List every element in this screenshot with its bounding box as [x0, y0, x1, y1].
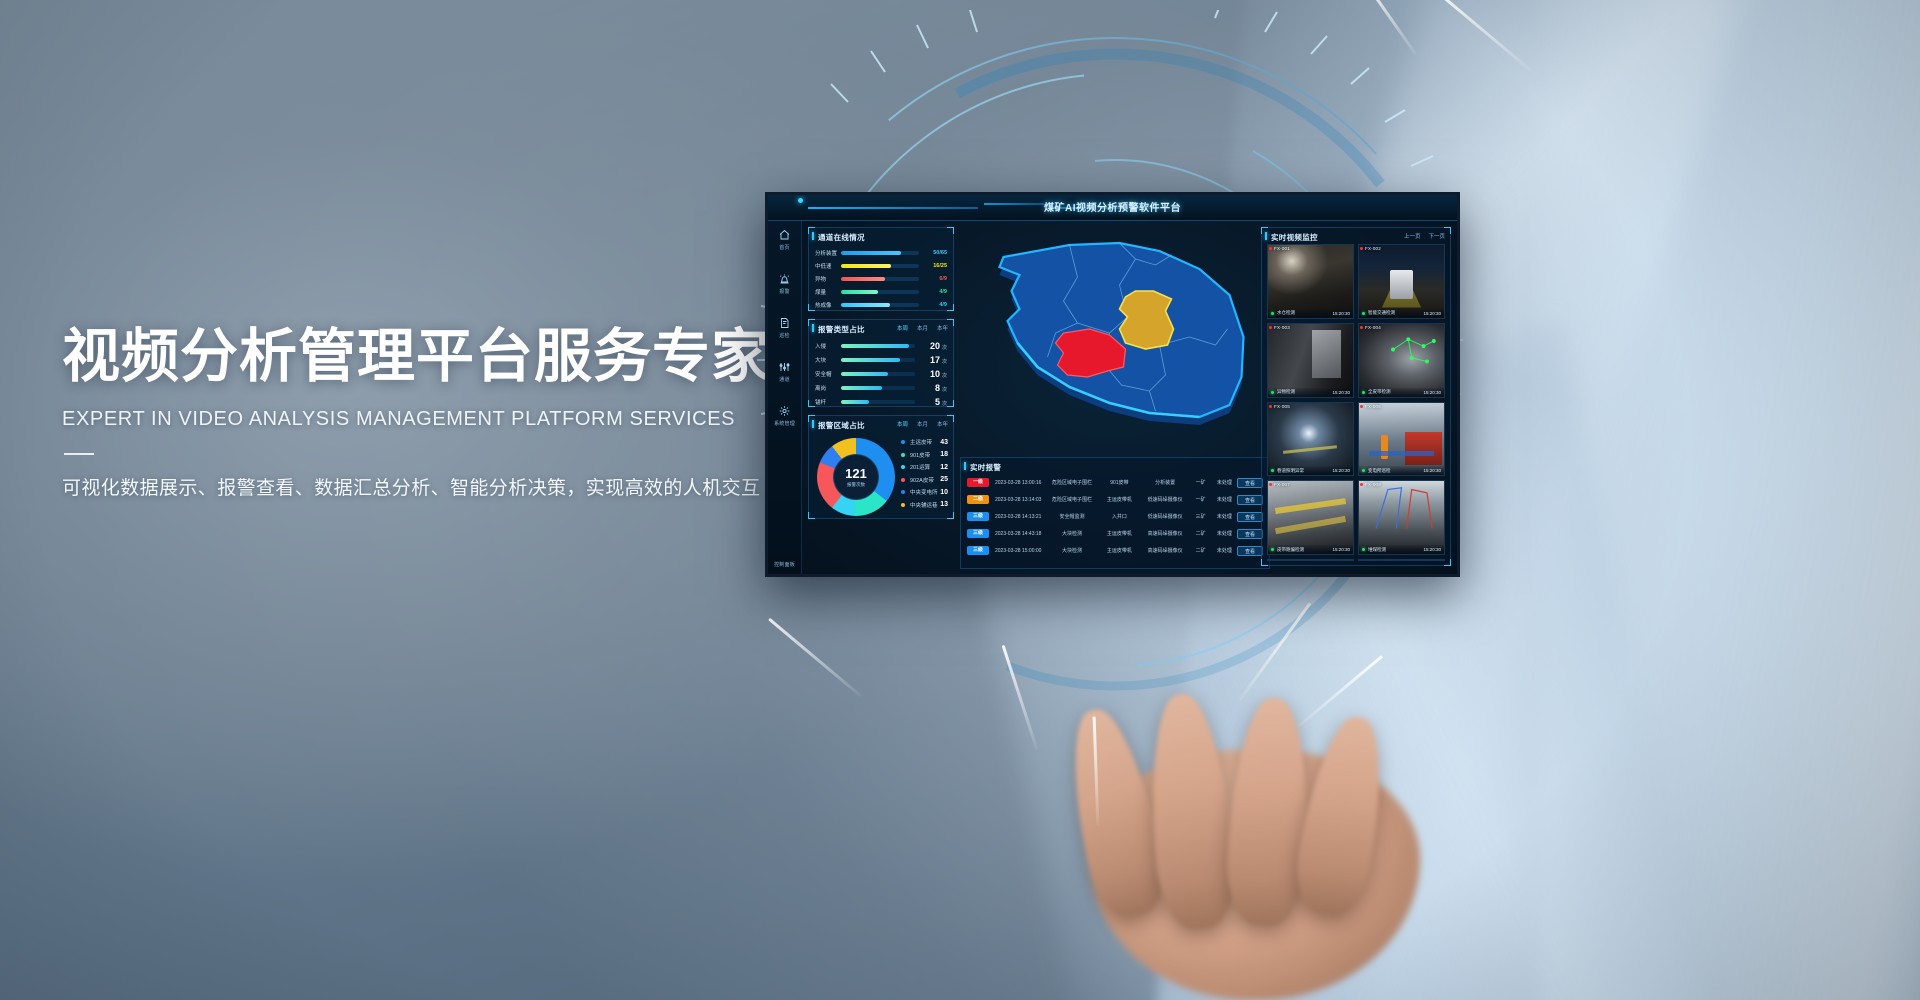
channel-icon [768, 361, 801, 373]
view-button[interactable]: 查看 [1237, 546, 1263, 556]
camera-id: FX-003 [1274, 325, 1290, 330]
tab-year[interactable]: 本年 [937, 324, 948, 332]
video-tile[interactable]: FX-006 变电所巡检 15:20:30 [1358, 402, 1445, 477]
home-icon [768, 229, 801, 241]
sidebar-label: 巡检 [768, 332, 801, 339]
camera-caption: 皮带跑偏检测 [1277, 547, 1332, 553]
tab-month[interactable]: 本月 [917, 324, 928, 332]
alarm-location: 主运皮带机 [1098, 496, 1140, 503]
alarm-time: 2023-03-28 13:14:03 [995, 497, 1046, 503]
legend-item: 901皮带 18 [901, 449, 948, 462]
channel-value: 50/65 [919, 250, 947, 256]
video-footer: 智能交通检测 15:20:30 [1359, 309, 1444, 318]
alarm-grade: 二矿 [1190, 547, 1212, 554]
video-tile[interactable]: FX-005 巷道照明异常 15:20:30 [1267, 402, 1354, 477]
alarm-type: 危险区域电子围栏 [1046, 496, 1098, 503]
alarm-location: 主运皮带机 [1098, 530, 1140, 537]
legend-name: 901皮带 [910, 451, 940, 459]
channel-name: 热成像 [815, 301, 841, 309]
dashboard-sidebar: 首页 报警 巡检 [768, 221, 802, 574]
legend-dot [901, 478, 905, 482]
legend-value: 10 [940, 489, 948, 496]
channel-progress [841, 264, 919, 268]
sidebar-item-channel[interactable]: 通道 [768, 357, 801, 401]
video-tile[interactable]: FX-009 罐斗对面 15:20:30 [1267, 559, 1354, 561]
video-footer: 水仓检测 15:20:30 [1268, 309, 1353, 318]
tab-month[interactable]: 本月 [917, 420, 928, 428]
sidebar-label: 报警 [768, 288, 801, 295]
sidebar-footer-label: 控制面板 [768, 561, 801, 568]
recording-indicator [1269, 326, 1272, 329]
legend-item: 中央变电所 10 [901, 486, 948, 499]
alarm-time: 2023-03-28 14:43:18 [995, 531, 1046, 537]
alarm-area-tabs: 本周 本月 本年 [897, 420, 948, 428]
table-row[interactable]: 一级 2023-03-28 13:00:16 危险区域电子围栏 901皮带 分析… [967, 474, 1263, 491]
recording-indicator [1360, 247, 1363, 250]
camera-id: FX-006 [1365, 404, 1381, 409]
alarm-type-progress [841, 358, 915, 363]
donut-value: 121 [845, 467, 867, 480]
online-indicator [1362, 391, 1365, 394]
legend-value: 12 [940, 464, 948, 471]
legend-dot [901, 440, 905, 444]
video-footer: 全皮带检测 15:20:30 [1359, 388, 1444, 397]
channel-value: 4/9 [919, 302, 947, 308]
status-badge: 三级 [967, 546, 989, 555]
alarm-type: 大块检测 [1046, 530, 1098, 537]
camera-id: FX-007 [1274, 482, 1290, 487]
camera-id: FX-001 [1274, 246, 1290, 251]
alarm-time: 2023-03-28 13:00:16 [995, 480, 1046, 486]
dashboard-title: 煤矿AI视频分析预警软件平台 [768, 199, 1457, 214]
alarm-type-row: 大块 17次 [815, 353, 947, 367]
alarm-type-progress [841, 344, 915, 349]
alarm-device: 分析装置 [1141, 479, 1190, 486]
status-badge: 三级 [967, 529, 989, 538]
alarm-area-panel: 报警区域占比 本周 本月 本年 121 报警次数 主运皮带 43 [808, 415, 954, 519]
online-indicator [1362, 469, 1365, 472]
legend-item: 902A皮带 25 [901, 474, 948, 487]
camera-time: 15:20:30 [1332, 390, 1350, 395]
view-button[interactable]: 查看 [1237, 478, 1263, 488]
online-indicator [1271, 391, 1274, 394]
alarm-type-value: 8次 [915, 383, 947, 393]
tab-week[interactable]: 本周 [897, 324, 908, 332]
status-badge: 三级 [967, 512, 989, 521]
camera-time: 15:20:30 [1423, 311, 1441, 316]
channel-name: 中低速 [815, 262, 841, 270]
table-row[interactable]: 三级 2023-03-28 14:43:18 大块检测 主运皮带机 高速码垛摄像… [967, 525, 1263, 542]
sidebar-label: 首页 [768, 244, 801, 251]
view-button[interactable]: 查看 [1237, 495, 1263, 505]
alarm-type-value: 17次 [915, 355, 947, 365]
panel-title: 通道在线情况 [809, 228, 953, 243]
legend-value: 25 [940, 476, 948, 483]
legend-value: 43 [940, 439, 948, 446]
legend-name: 902A皮带 [910, 476, 940, 484]
sidebar-item-inspection[interactable]: 巡检 [768, 313, 801, 357]
alarm-area-donut: 121 报警次数 [817, 438, 895, 516]
video-tile[interactable]: FX-001 水仓检测 15:20:30 [1267, 244, 1354, 319]
status-badge: 一级 [967, 478, 989, 487]
channel-value: 4/9 [919, 289, 947, 295]
sidebar-item-settings[interactable]: 系统管理 [768, 401, 801, 445]
alarm-type-name: 安全帽 [815, 370, 841, 378]
channel-value: 6/9 [919, 276, 947, 282]
alarm-type-value: 10次 [915, 369, 947, 379]
channel-row: 中低速 16/25 [815, 259, 947, 272]
recording-indicator [1269, 405, 1272, 408]
camera-caption: 巷道照明异常 [1277, 468, 1332, 474]
alarm-status: 未处理 [1212, 479, 1237, 486]
video-footer: 变电所巡检 15:20:30 [1359, 466, 1444, 475]
channel-name: 分析装置 [815, 249, 841, 257]
alarm-type: 大块检测 [1046, 547, 1098, 554]
legend-item: 中央辅运巷 13 [901, 499, 948, 512]
channel-row: 热成像 4/9 [815, 298, 947, 311]
camera-id: FX-004 [1365, 325, 1381, 330]
video-tile[interactable]: FX-007 皮带跑偏检测 15:20:30 [1267, 480, 1354, 555]
camera-caption: 智能交通检测 [1368, 310, 1423, 316]
online-indicator [1271, 469, 1274, 472]
alarm-location: 入井口 [1098, 513, 1140, 520]
alarm-time: 2023-03-28 14:13:21 [995, 514, 1046, 520]
video-panel-header: 实时视频监控 上一页 下一页 [1262, 228, 1450, 242]
legend-value: 18 [940, 451, 948, 458]
alarm-device: 高速码垛摄像仪 [1141, 530, 1190, 537]
alarm-grade: 三矿 [1190, 513, 1212, 520]
tab-week[interactable]: 本周 [897, 420, 908, 428]
alarm-status: 未处理 [1212, 513, 1237, 520]
camera-caption: 全皮带检测 [1368, 389, 1423, 395]
legend-dot [901, 453, 905, 457]
alarm-icon [768, 273, 801, 285]
alarm-area-legend: 主运皮带 43 901皮带 18 201运算 12 902A皮带 25 [901, 436, 948, 511]
camera-caption: 水仓检测 [1277, 310, 1332, 316]
table-row[interactable]: 三级 2023-03-28 14:13:21 安全帽监测 入井口 低速码垛摄像仪… [967, 508, 1263, 525]
video-footer: 罐斗对面 15:20:30 [1268, 559, 1353, 560]
alarm-status: 未处理 [1212, 496, 1237, 503]
prev-page-button[interactable]: 上一页 [1404, 232, 1421, 240]
camera-time: 15:20:30 [1332, 311, 1350, 316]
alarm-type-name: 离岗 [815, 384, 841, 392]
sidebar-item-home[interactable]: 首页 [768, 225, 801, 269]
alarm-location: 主运皮带机 [1098, 547, 1140, 554]
alarm-grade: 一矿 [1190, 496, 1212, 503]
camera-id: FX-008 [1365, 482, 1381, 487]
donut-label: 报警次数 [847, 482, 865, 488]
hero-divider [64, 453, 94, 455]
alarm-type-value: 5次 [915, 397, 947, 407]
alarm-device: 高速码垛摄像仪 [1141, 547, 1190, 554]
camera-time: 15:20:30 [1332, 547, 1350, 552]
alarm-type-name: 锚杆 [815, 398, 841, 406]
table-row[interactable]: 三级 2023-03-28 15:00:00 大块检测 主运皮带机 高速码垛摄像… [967, 542, 1263, 559]
alarm-time: 2023-03-28 15:00:00 [995, 548, 1046, 554]
video-footer: 异物检测 15:20:30 [1268, 388, 1353, 397]
donut-center: 121 报警次数 [833, 454, 879, 500]
alarm-table: 一级 2023-03-28 13:00:16 危险区域电子围栏 901皮带 分析… [961, 474, 1269, 559]
camera-time: 15:20:30 [1423, 468, 1441, 473]
online-indicator [1271, 548, 1274, 551]
next-page-button[interactable]: 下一页 [1428, 232, 1445, 240]
legend-dot [901, 490, 905, 494]
alarm-type: 安全帽监测 [1046, 513, 1098, 520]
alarm-grade: 一矿 [1190, 479, 1212, 486]
sidebar-label: 系统管理 [768, 420, 801, 427]
online-indicator [1362, 312, 1365, 315]
alarm-type: 危险区域电子围栏 [1046, 479, 1098, 486]
camera-time: 15:20:30 [1332, 468, 1350, 473]
alarm-device: 低速码垛摄像仪 [1141, 513, 1190, 520]
alarm-type-row: 入侵 20次 [815, 339, 947, 353]
alarm-type-progress [841, 386, 915, 391]
video-footer: 巷道照明异常 15:20:30 [1268, 466, 1353, 475]
legend-name: 中央辅运巷 [910, 501, 940, 509]
alarm-grade: 二矿 [1190, 530, 1212, 537]
alarm-type-name: 入侵 [815, 342, 841, 350]
inspection-icon [768, 317, 801, 329]
legend-value: 13 [940, 501, 948, 508]
legend-name: 201运算 [910, 463, 940, 471]
video-grid: FX-001 水仓检测 15:20:30 FX-002 智能交通 [1267, 244, 1445, 561]
sidebar-label: 通道 [768, 376, 801, 383]
alarm-location: 901皮带 [1098, 479, 1140, 486]
realtime-alarm-panel: 实时报警 一级 2023-03-28 13:00:16 危险区域电子围栏 901… [960, 457, 1270, 569]
view-button[interactable]: 查看 [1237, 512, 1263, 522]
channel-online-panel: 通道在线情况 分析装置 50/65 中低速 16/25 异物 6/9 [808, 227, 954, 311]
channel-row: 分析装置 50/65 [815, 246, 947, 259]
online-indicator [1271, 312, 1274, 315]
camera-caption: 异物检测 [1277, 389, 1332, 395]
alarm-type-row: 安全帽 10次 [815, 367, 947, 381]
channel-progress [841, 303, 919, 307]
view-button[interactable]: 查看 [1237, 529, 1263, 539]
alarm-type-progress [841, 400, 915, 405]
dashboard-screen: 煤矿AI视频分析预警软件平台 首页 报警 [765, 192, 1460, 577]
legend-item: 201运算 12 [901, 461, 948, 474]
video-tile[interactable]: FX-004 全皮带检测 15:20:30 [1358, 323, 1445, 398]
online-indicator [1362, 548, 1365, 551]
video-tile[interactable]: FX-002 智能交通检测 15:20:30 [1358, 244, 1445, 319]
camera-time: 15:20:30 [1423, 547, 1441, 552]
channel-progress [841, 251, 919, 255]
recording-indicator [1360, 326, 1363, 329]
legend-dot [901, 465, 905, 469]
alarm-status: 未处理 [1212, 530, 1237, 537]
camera-id: FX-005 [1274, 404, 1290, 409]
alarm-type-value: 20次 [915, 341, 947, 351]
legend-item: 主运皮带 43 [901, 436, 948, 449]
alarm-type-row: 锚杆 5次 [815, 395, 947, 409]
channel-progress [841, 277, 919, 281]
video-tile[interactable]: FX-010 室内检测 15:20:30 [1358, 559, 1445, 561]
recording-indicator [1269, 247, 1272, 250]
settings-icon [768, 405, 801, 417]
camera-time: 15:20:30 [1423, 390, 1441, 395]
alarm-type-tabs: 本周 本月 本年 [897, 324, 948, 332]
legend-name: 中央变电所 [910, 488, 940, 496]
video-footer: 室内检测 15:20:30 [1359, 559, 1444, 560]
channel-progress [841, 290, 919, 294]
video-footer: 堆煤检测 15:20:30 [1359, 545, 1444, 554]
alarm-type-progress [841, 372, 915, 377]
legend-name: 主运皮带 [910, 438, 940, 446]
video-footer: 皮带跑偏检测 15:20:30 [1268, 545, 1353, 554]
channel-name: 煤量 [815, 288, 841, 296]
sidebar-item-alarm[interactable]: 报警 [768, 269, 801, 313]
camera-caption: 变电所巡检 [1368, 468, 1423, 474]
video-pager: 上一页 下一页 [1404, 232, 1445, 240]
alarm-status: 未处理 [1212, 547, 1237, 554]
alarm-type-row: 离岗 8次 [815, 381, 947, 395]
camera-id: FX-002 [1365, 246, 1381, 251]
table-row[interactable]: 二级 2023-03-28 13:14:03 危险区域电子围栏 主运皮带机 低速… [967, 491, 1263, 508]
video-surveillance-panel: 实时视频监控 上一页 下一页 FX-001 水仓检测 15:20:30 [1261, 227, 1451, 566]
alarm-device: 低速码垛摄像仪 [1141, 496, 1190, 503]
status-badge: 二级 [967, 495, 989, 504]
tab-year[interactable]: 本年 [937, 420, 948, 428]
camera-caption: 堆煤检测 [1368, 547, 1423, 553]
sidebar-footer: 控制面板 [768, 558, 801, 568]
channel-row: 煤量 4/9 [815, 285, 947, 298]
channel-value: 16/25 [919, 263, 947, 269]
panel-title: 实时报警 [961, 458, 1269, 473]
video-tile[interactable]: FX-008 堆煤检测 15:20:30 [1358, 480, 1445, 555]
alarm-type-panel: 报警类型占比 本周 本月 本年 入侵 20次 大块 17次 安全帽 [808, 319, 954, 407]
video-tile[interactable]: FX-003 异物检测 15:20:30 [1267, 323, 1354, 398]
map-region[interactable] [958, 225, 1261, 455]
channel-name: 异物 [815, 275, 841, 283]
recording-indicator [1360, 405, 1363, 408]
alarm-type-name: 大块 [815, 356, 841, 364]
channel-row: 异物 6/9 [815, 272, 947, 285]
dashboard-header: 煤矿AI视频分析预警软件平台 [768, 195, 1457, 221]
legend-dot [901, 503, 905, 507]
